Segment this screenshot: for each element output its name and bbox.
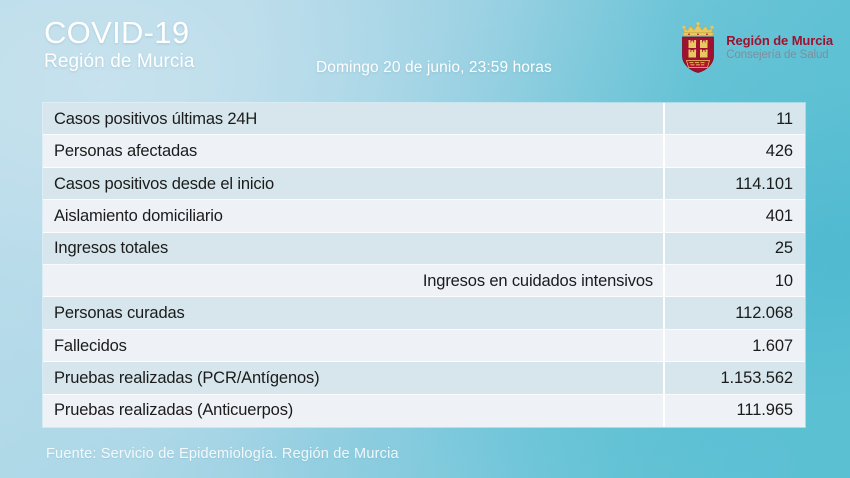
- row-value: 25: [665, 239, 805, 258]
- coat-of-arms-icon: [677, 18, 719, 74]
- source-footer: Fuente: Servicio de Epidemiología. Regió…: [46, 446, 399, 462]
- row-label: Ingresos en cuidados intensivos: [43, 272, 663, 291]
- row-value: 10: [665, 272, 805, 291]
- table-row: Fallecidos 1.607: [43, 330, 805, 362]
- header: COVID-19 Región de Murcia Domingo 20 de …: [0, 0, 850, 96]
- row-label: Pruebas realizadas (Anticuerpos): [43, 401, 663, 420]
- row-label: Fallecidos: [43, 337, 663, 356]
- region-de-murcia-logo: Región de Murcia Consejería de Salud: [677, 17, 833, 75]
- covid-stats-infographic: COVID-19 Región de Murcia Domingo 20 de …: [0, 0, 850, 478]
- table-row: Pruebas realizadas (PCR/Antígenos) 1.153…: [43, 362, 805, 394]
- table-row: Casos positivos desde el inicio 114.101: [43, 168, 805, 200]
- row-label: Personas afectadas: [43, 142, 663, 161]
- logo-text: Región de Murcia Consejería de Salud: [726, 30, 833, 62]
- row-value: 11: [665, 110, 805, 129]
- row-label: Aislamiento domiciliario: [43, 207, 663, 226]
- statistics-table: Casos positivos últimas 24H 11 Personas …: [43, 103, 805, 427]
- row-label: Casos positivos últimas 24H: [43, 110, 663, 129]
- table-row: Casos positivos últimas 24H 11: [43, 103, 805, 135]
- logo-department: Consejería de Salud: [726, 49, 833, 62]
- row-value: 1.153.562: [665, 369, 805, 388]
- row-label: Casos positivos desde el inicio: [43, 175, 663, 194]
- page-title: COVID-19: [44, 16, 195, 49]
- row-value: 426: [665, 142, 805, 161]
- report-timestamp: Domingo 20 de junio, 23:59 horas: [316, 59, 552, 77]
- table-row: Ingresos totales 25: [43, 233, 805, 265]
- row-value: 111.965: [665, 401, 805, 420]
- table-row: Aislamiento domiciliario 401: [43, 200, 805, 232]
- logo-org-name: Región de Murcia: [726, 34, 833, 49]
- row-label: Personas curadas: [43, 304, 663, 323]
- page-subtitle: Región de Murcia: [44, 50, 195, 74]
- table-row: Personas curadas 112.068: [43, 297, 805, 329]
- row-label: Pruebas realizadas (PCR/Antígenos): [43, 369, 663, 388]
- table-row: Pruebas realizadas (Anticuerpos) 111.965: [43, 395, 805, 427]
- row-label: Ingresos totales: [43, 239, 663, 258]
- table-row: Ingresos en cuidados intensivos 10: [43, 265, 805, 297]
- title-block: COVID-19 Región de Murcia: [44, 16, 195, 74]
- row-value: 112.068: [665, 304, 805, 323]
- row-value: 401: [665, 207, 805, 226]
- row-value: 114.101: [665, 175, 805, 194]
- table-row: Personas afectadas 426: [43, 135, 805, 167]
- row-value: 1.607: [665, 337, 805, 356]
